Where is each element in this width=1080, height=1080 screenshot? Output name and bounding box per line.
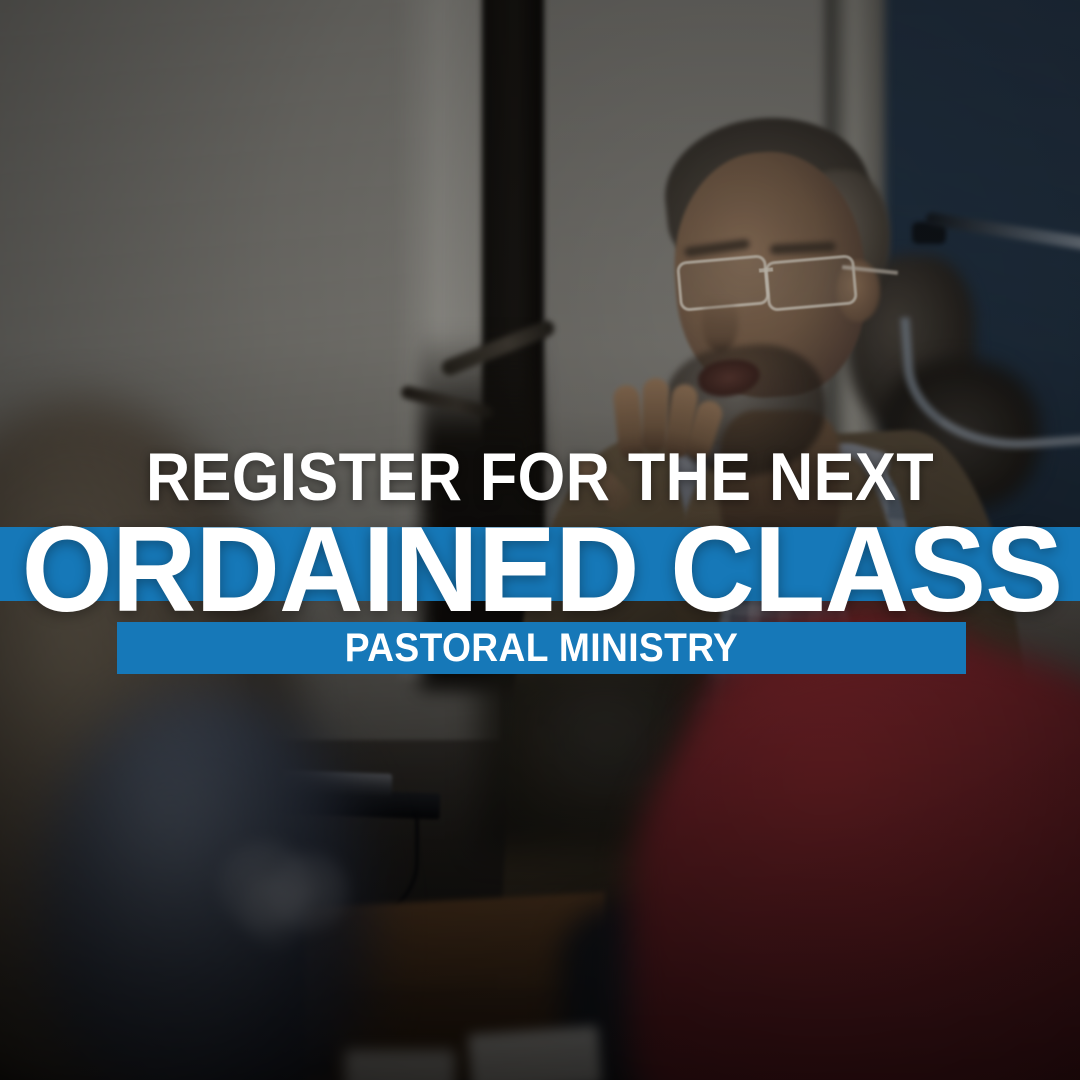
- promo-poster: REGISTER FOR THE NEXT ORDAINED CLASS PAS…: [0, 0, 1080, 1080]
- headline-line-2: ORDAINED CLASS: [22, 508, 1059, 630]
- subtitle-text: PASTORAL MINISTRY: [147, 622, 937, 674]
- text-overlay: REGISTER FOR THE NEXT ORDAINED CLASS PAS…: [0, 0, 1080, 1080]
- headline-block: REGISTER FOR THE NEXT ORDAINED CLASS: [0, 440, 1080, 630]
